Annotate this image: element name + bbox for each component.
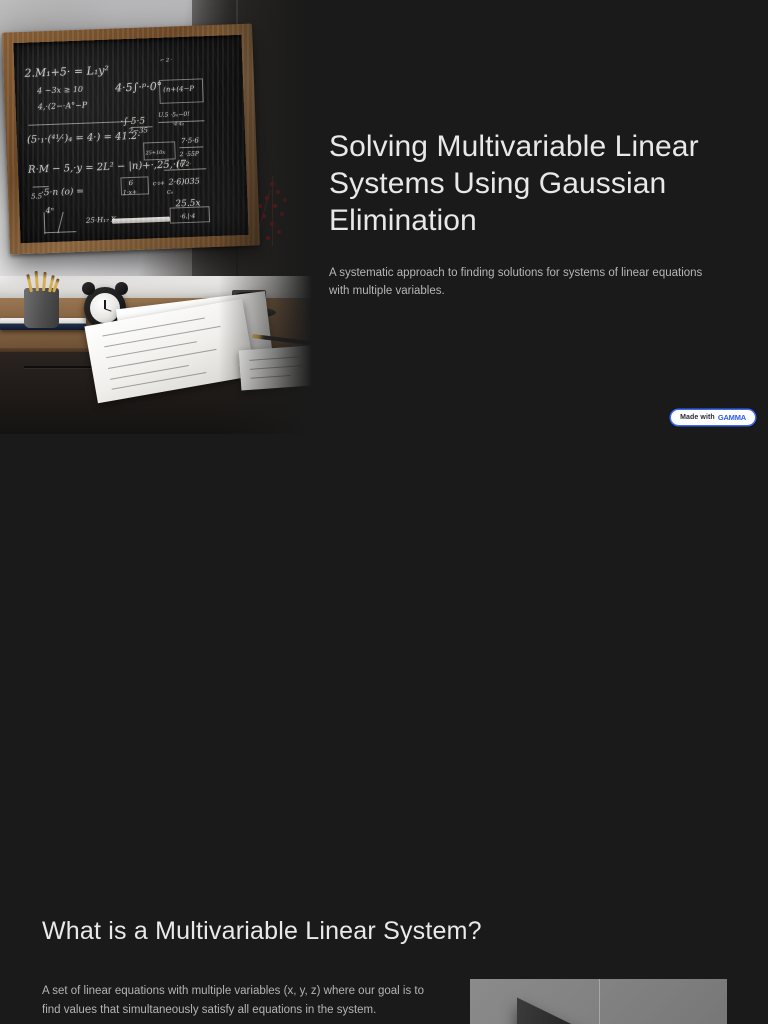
- badge-prefix-label: Made with: [680, 414, 715, 421]
- section-heading-what-is: What is a Multivariable Linear System?: [42, 917, 482, 946]
- what-is-paragraph-1: A set of linear equations with multiple …: [42, 982, 442, 1019]
- clock-face: [90, 293, 120, 323]
- presentation-page: 2.M₁+5· = L₁y² 4 −3x ≥ 10 4,·(2−·A°−P (5…: [0, 0, 768, 1024]
- chalkboard-surface: 2.M₁+5· = L₁y² 4 −3x ≥ 10 4,·(2−·A°−P (5…: [13, 35, 248, 243]
- plane-dark-diagonal: [517, 998, 687, 1024]
- vertical-axis-line: [599, 979, 600, 1024]
- hero-illustration: 2.M₁+5· = L₁y² 4 −3x ≥ 10 4,·(2−·A°−P (5…: [0, 0, 312, 434]
- chalkboard-frame: 2.M₁+5· = L₁y² 4 −3x ≥ 10 4,·(2−·A°−P (5…: [2, 23, 260, 254]
- pencil-cup: [24, 288, 59, 328]
- hero-text-block: Solving Multivariable Linear Systems Usi…: [329, 128, 729, 301]
- chalk-tray: [112, 217, 170, 224]
- page-subtitle: A systematic approach to finding solutio…: [329, 264, 704, 301]
- page-title: Solving Multivariable Linear Systems Usi…: [329, 128, 729, 240]
- worksheet-paper-right: [239, 346, 312, 391]
- section-what-is-body: A set of linear equations with multiple …: [42, 982, 442, 1024]
- hero-section: 2.M₁+5· = L₁y² 4 −3x ≥ 10 4,·(2−·A°−P (5…: [0, 0, 768, 434]
- intersecting-planes-illustration: [470, 979, 727, 1024]
- gamma-brand-label: GAMMA: [718, 413, 746, 422]
- made-with-gamma-badge[interactable]: Made with GAMMA: [671, 410, 755, 425]
